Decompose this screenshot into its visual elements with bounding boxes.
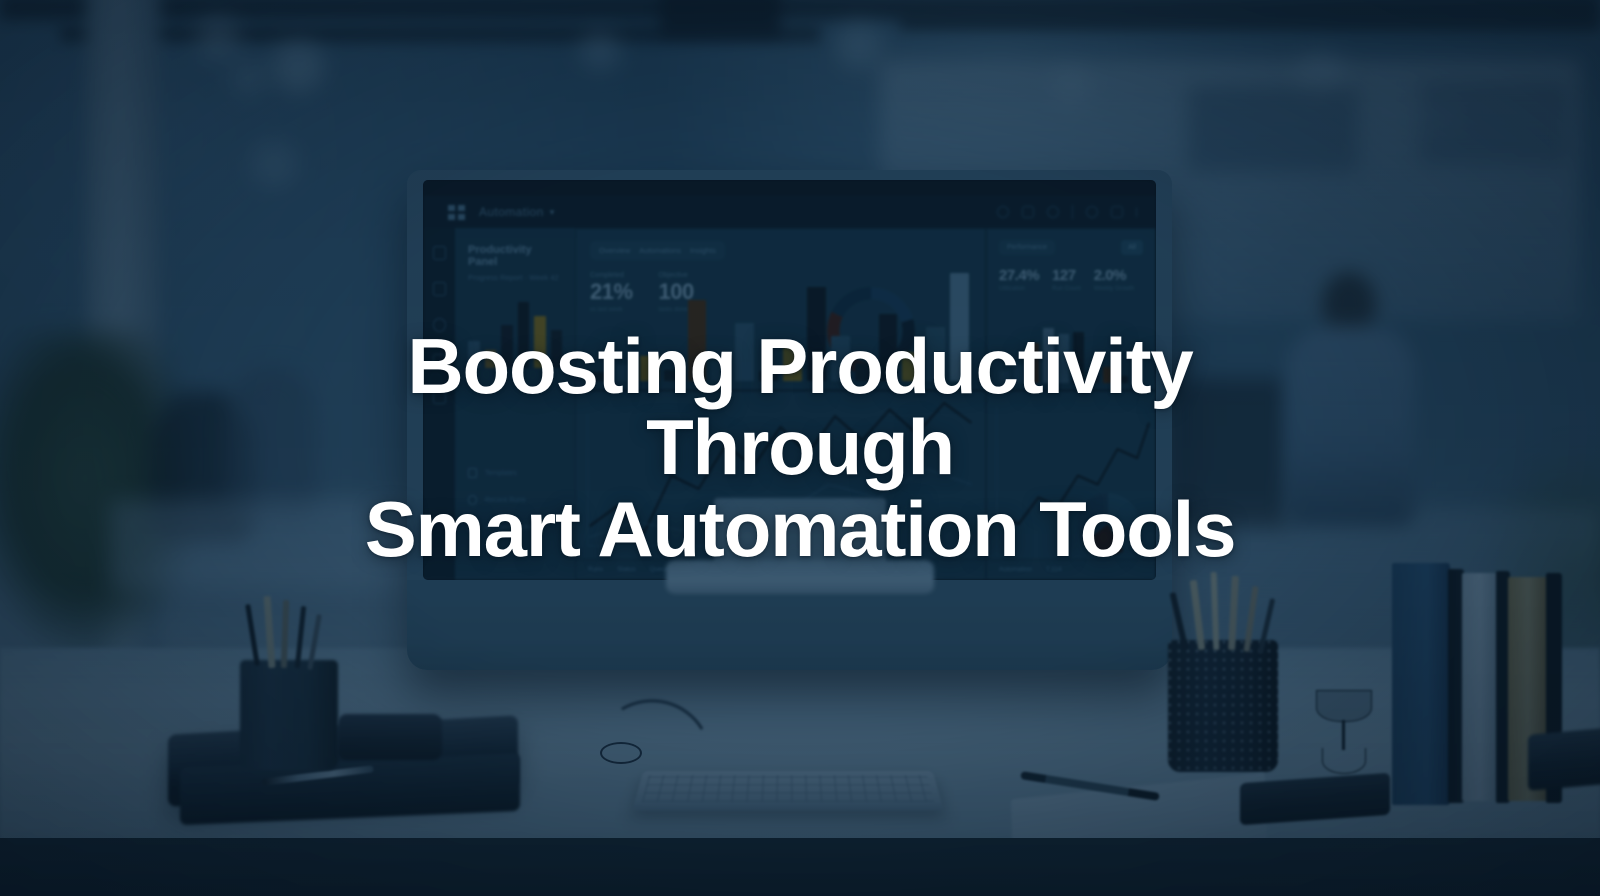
page-title: Boosting Productivity Through Smart Auto… [295, 326, 1305, 569]
headline-line-1: Boosting Productivity Through [407, 322, 1192, 491]
hero-banner: Automation ▾ [0, 0, 1600, 896]
hero-headline-block: Boosting Productivity Through Smart Auto… [0, 0, 1600, 896]
headline-line-2: Smart Automation Tools [295, 489, 1305, 570]
